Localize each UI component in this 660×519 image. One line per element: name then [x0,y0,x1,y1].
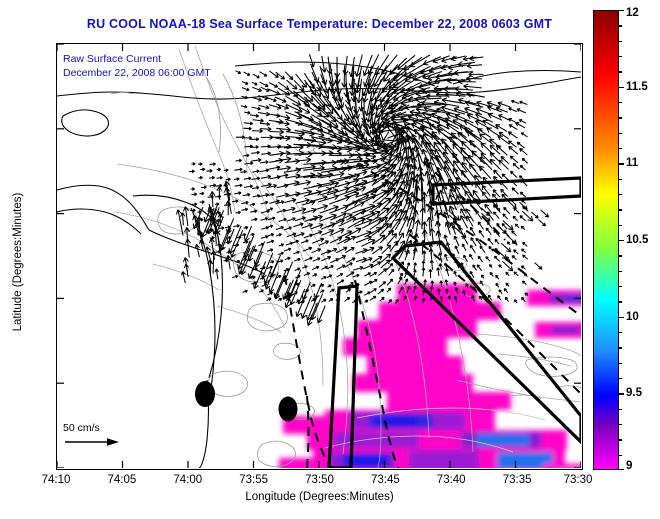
vector-scale-key: 50 cm/s [63,422,121,451]
y-axis-label: Latitude (Degrees:Minutes) [12,162,24,362]
colorbar-label-2: 11 [626,157,638,169]
colorbar-tick-major-2 [619,163,624,164]
colorbar-tick-major-4 [619,317,624,318]
station-marker-west [195,381,215,407]
colorbar-tick-minor [619,332,622,333]
colorbar-tick-minor [619,41,622,42]
right-arrow-icon [63,435,121,448]
colorbar-tick-minor [619,409,622,410]
station-marker-east [279,397,298,422]
colorbar-tick-major-5 [619,393,624,394]
xtick-label-1: 74:05 [108,474,137,486]
colorbar-tick-minor [619,424,622,425]
xtick-label-8: 73:30 [564,474,593,486]
xtick-label-6: 73:40 [437,474,466,486]
xtick-label-7: 73:35 [503,474,532,486]
colorbar-tick-major-3 [619,240,624,241]
xtick-label-5: 73:45 [371,474,400,486]
page-title: RU COOL NOAA-18 Sea Surface Temperature:… [56,17,583,31]
colorbar-label-5: 9.5 [626,387,642,399]
colorbar-label-6: 9 [626,460,632,472]
colorbar-tick-major-0 [619,10,624,11]
colorbar-tick-minor [619,439,622,440]
colorbar-tick-minor [619,271,622,272]
colorbar-tick-minor [619,25,622,26]
sst-figure: RU COOL NOAA-18 Sea Surface Temperature:… [0,0,660,519]
colorbar-tick-major-1 [619,87,624,88]
colorbar-tick-minor [619,286,622,287]
colorbar-tick-minor [619,117,622,118]
colorbar[interactable]: 12 11.5 11 10.5 10 9.5 9 [593,10,619,470]
xtick-label-0: 74:10 [42,474,71,486]
colorbar-tick-minor [619,71,622,72]
x-axis-label: Longitude (Degrees:Minutes) [56,491,583,503]
colorbar-label-3: 10.5 [626,234,648,246]
xtick-label-2: 74:00 [173,474,202,486]
colorbar-label-1: 11.5 [626,81,648,93]
colorbar-label-4: 10 [626,311,639,323]
colorbar-tick-major-6 [619,469,624,470]
station-markers [195,381,298,422]
surface-current-quiver [176,54,548,325]
map-canvas [57,44,581,468]
vector-scale-label: 50 cm/s [63,422,121,434]
colorbar-tick-minor [619,102,622,103]
xtick-label-3: 73:55 [239,474,268,486]
colorbar-tick-minor [619,347,622,348]
colorbar-tick-minor [619,255,622,256]
colorbar-tick-minor [619,194,622,195]
colorbar-tick-minor [619,209,622,210]
colorbar-tick-minor [619,225,622,226]
colorbar-label-0: 12 [626,7,639,19]
current-vectors [176,54,548,325]
xtick-label-4: 73:50 [305,474,334,486]
colorbar-tick-minor [619,56,622,57]
map-plot-area[interactable]: Raw Surface Current December 22, 2008 06… [56,43,583,470]
colorbar-tick-minor [619,148,622,149]
sst-raster [279,284,581,468]
colorbar-tick-minor [619,455,622,456]
colorbar-gradient [593,10,619,470]
colorbar-tick-minor [619,363,622,364]
colorbar-tick-minor [619,179,622,180]
colorbar-tick-minor [619,301,622,302]
colorbar-tick-minor [619,378,622,379]
colorbar-tick-minor [619,133,622,134]
